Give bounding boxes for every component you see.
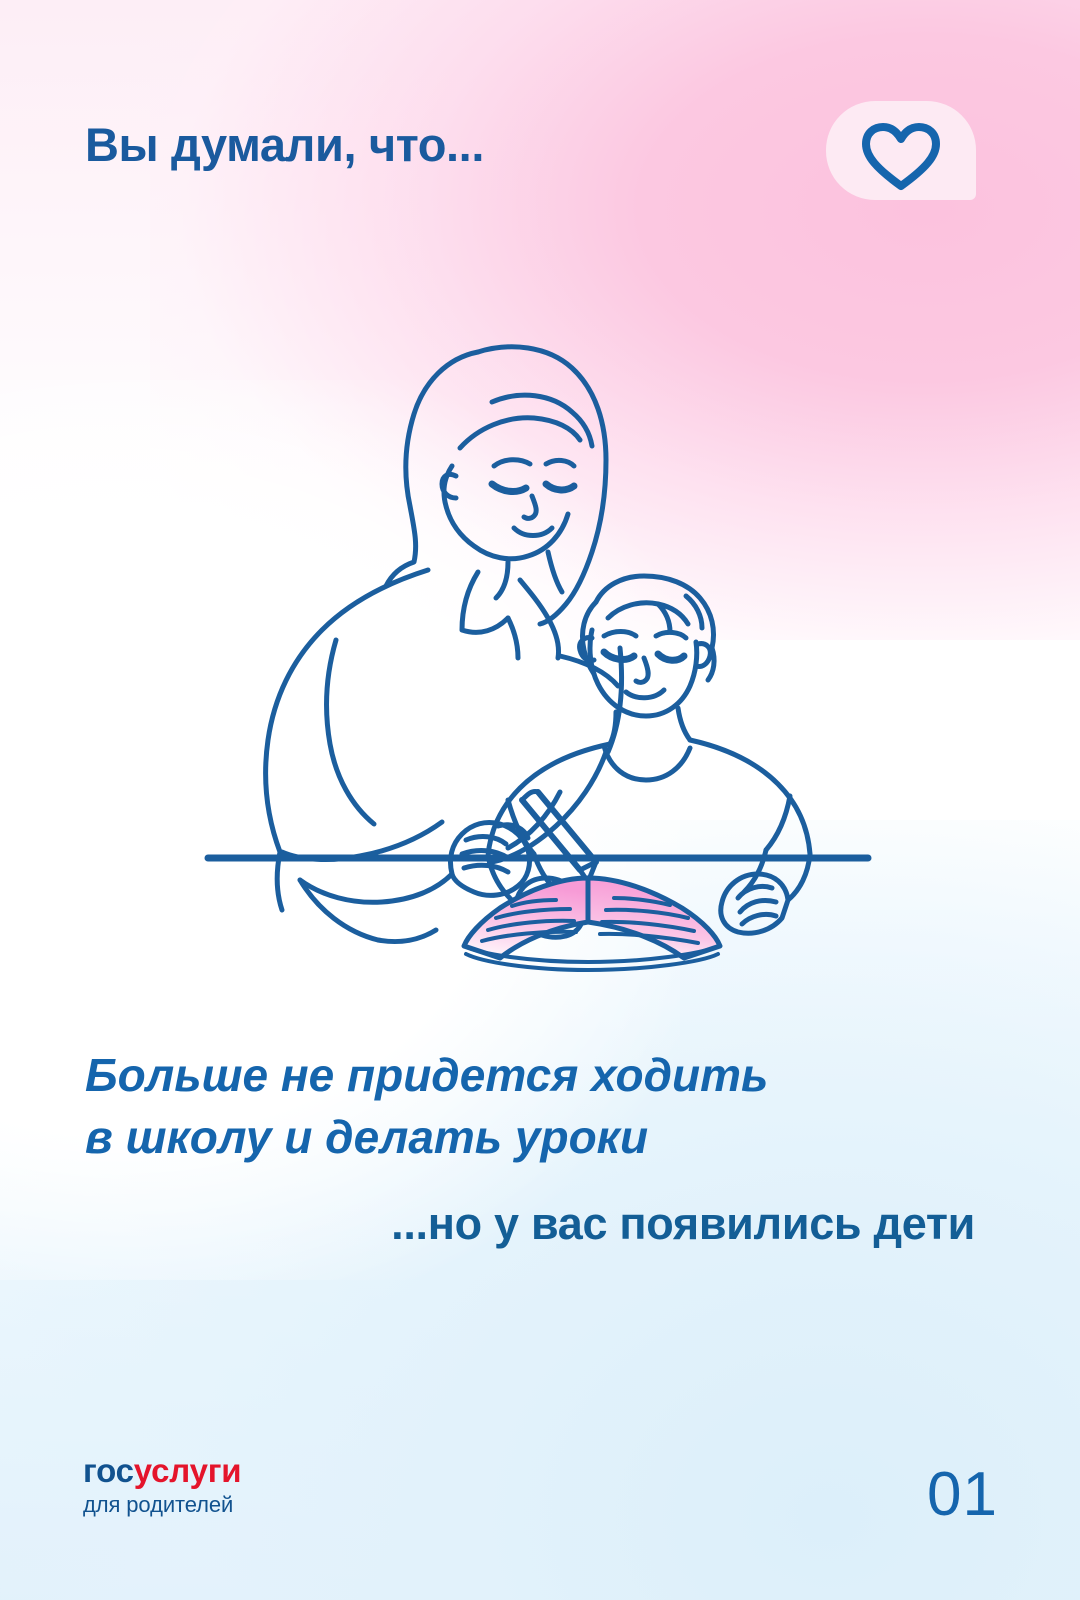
mother-neck-left — [496, 562, 508, 598]
child-eyebrow-right — [656, 632, 686, 638]
illustration — [0, 300, 1080, 1000]
claim-text: Больше не придется ходить в школу и дела… — [85, 1044, 885, 1168]
mother-arm-lower-bottom — [300, 874, 452, 902]
poster-canvas: Вы думали, что... — [0, 0, 1080, 1600]
child-eyebrow-left — [604, 632, 636, 637]
logo-wordmark: госуслуги — [83, 1453, 241, 1489]
illustration-svg — [0, 300, 1080, 1000]
child-collar — [604, 746, 690, 780]
mother-skirt-hem — [378, 930, 436, 942]
page-number: 01 — [927, 1459, 998, 1530]
page-title: Вы думали, что... — [85, 117, 484, 172]
mother-eye-left — [492, 484, 526, 491]
mother-eyebrow-left — [494, 460, 530, 466]
pencil-eraser — [522, 791, 538, 800]
child-neck-right — [678, 708, 690, 740]
child-hand-right-finger-3 — [742, 914, 776, 924]
mother-mouth — [514, 528, 552, 536]
child-eye-right — [658, 654, 684, 660]
mother-arm-lower-left — [282, 822, 442, 859]
logo-part-uslugi: услуги — [134, 1452, 242, 1489]
child-hand-right-finger-1 — [738, 886, 772, 898]
logo-subtitle: для родителей — [83, 1491, 241, 1519]
mother-sleeve-seam — [327, 640, 374, 824]
mother-collar-left — [462, 572, 508, 632]
heart-icon — [862, 123, 940, 191]
child-hair-fringe-1 — [608, 603, 688, 624]
child-sleeve-right — [766, 796, 790, 850]
mother-collar-center — [508, 618, 518, 658]
mother-finger-1 — [466, 837, 506, 844]
mother-eyebrow-right — [546, 460, 574, 466]
mother-hair-left — [386, 352, 478, 586]
claim-line-1: Больше не придется ходить — [85, 1049, 768, 1101]
mother-neck-right — [548, 552, 562, 592]
child-nose — [636, 658, 648, 682]
mother-back — [266, 570, 428, 852]
punchline-text: ...но у вас появились дети — [391, 1198, 975, 1250]
gosuslugi-logo[interactable]: госуслуги для родителей — [83, 1453, 241, 1519]
claim-line-2: в школу и делать уроки — [85, 1106, 885, 1168]
mother-finger-3 — [464, 865, 508, 872]
heart-badge[interactable] — [826, 101, 976, 200]
mother-face — [444, 466, 568, 559]
mother-ear — [442, 474, 456, 498]
child-hand-right-finger-2 — [740, 900, 776, 912]
mother-hair-sweep — [460, 418, 580, 448]
mother-eye-right — [546, 484, 574, 490]
mother-nose — [524, 496, 536, 518]
child-mouth — [626, 690, 664, 698]
logo-part-gos: гос — [83, 1452, 134, 1489]
